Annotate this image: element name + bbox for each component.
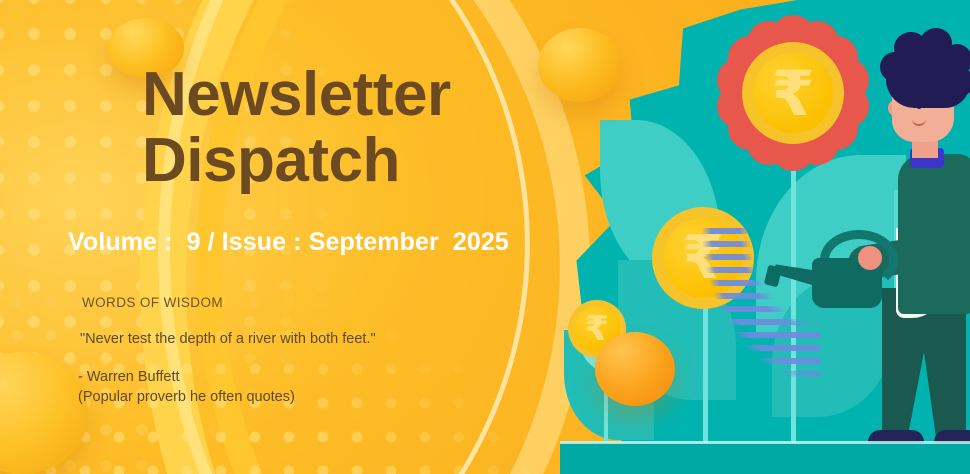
decorative-sphere <box>595 332 675 406</box>
halftone-dot-pattern-bottom <box>0 250 620 474</box>
quote-attribution: - Warren Buffett (Popular proverb he oft… <box>78 368 295 407</box>
page-title: Newsletter Dispatch <box>142 62 542 193</box>
volume-issue-line: Volume : 9 / Issue : September 2025 <box>68 228 509 257</box>
large-rupee-flower-coin: ₹ <box>742 42 844 144</box>
words-of-wisdom-label: WORDS OF WISDOM <box>82 295 223 310</box>
person-jacket <box>898 154 970 314</box>
ground-shape <box>560 443 970 474</box>
decorative-sphere <box>538 28 622 102</box>
rupee-icon: ₹ <box>742 42 844 144</box>
quote-text: "Never test the depth of a river with bo… <box>80 331 376 347</box>
title-line-1: Newsletter <box>142 60 451 129</box>
person-hair <box>886 42 970 108</box>
newsletter-banner: ₹ ₹ ₹ <box>0 0 970 474</box>
ground-line <box>560 441 970 444</box>
title-line-2: Dispatch <box>142 128 542 194</box>
water-stream <box>680 228 820 440</box>
person-hand <box>858 246 882 270</box>
